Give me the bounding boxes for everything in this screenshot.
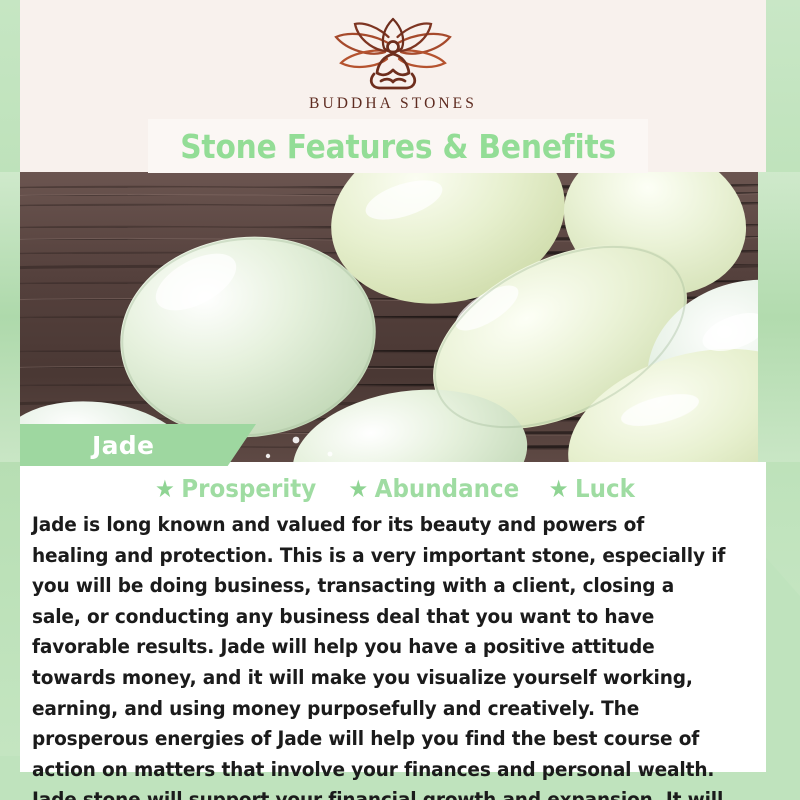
brand-name: BUDDHA STONES [309,95,477,113]
stone-name-label: Jade [92,433,154,458]
stone-photo [0,172,800,462]
page-title: Stone Features & Benefits [180,130,616,163]
stone-name-badge: Jade [20,424,256,466]
infographic-card: BUDDHA STONES [0,0,800,800]
benefit-item: ★ Abundance [348,474,519,503]
benefit-label: Prosperity [181,474,316,503]
brand-logo: BUDDHA STONES [20,14,766,122]
content-white-area: ★ Prosperity ★ Abundance ★ Luck Jade is … [20,462,766,772]
stone-photo-illustration [0,172,800,462]
photo-right-green-overlay [758,172,800,462]
star-icon: ★ [155,477,175,501]
benefit-label: Abundance [375,474,520,503]
star-icon: ★ [548,477,568,501]
star-icon: ★ [348,477,368,501]
title-banner: Stone Features & Benefits [148,119,648,173]
benefits-row: ★ Prosperity ★ Abundance ★ Luck [20,474,766,503]
lotus-meditation-icon [318,14,468,92]
stone-description: Jade is long known and valued for its be… [32,510,725,800]
content-panel: ★ Prosperity ★ Abundance ★ Luck Jade is … [20,462,766,772]
benefit-label: Luck [575,474,635,503]
benefit-item: ★ Luck [548,474,634,503]
benefit-item: ★ Prosperity [155,474,316,503]
photo-left-green-overlay [0,172,20,462]
